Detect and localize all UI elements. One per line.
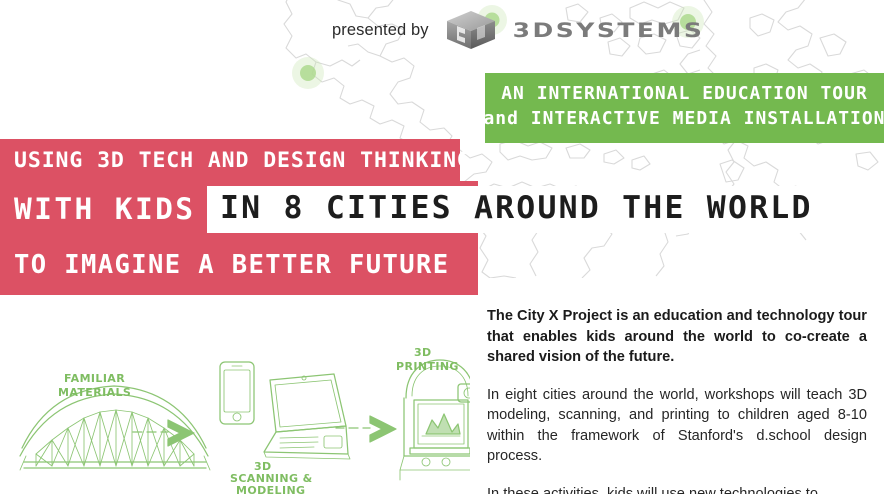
body-paragraph-lead: The City X Project is an education and t… <box>487 306 867 368</box>
step-1-label-line-2: MATERIALS <box>58 386 131 399</box>
step-2-label-line-3: MODELING <box>236 484 305 494</box>
green-banner: AN INTERNATIONAL EDUCATION TOUR and INTE… <box>485 73 884 143</box>
green-banner-line-2: and INTERACTIVE MEDIA INSTALLATION <box>481 107 884 132</box>
green-banner-line-2-rest: INTERACTIVE MEDIA INSTALLATION <box>531 109 884 129</box>
step-3-label-line-2: PRINTING <box>396 360 459 373</box>
headline-line-3: TO IMAGINE A BETTER FUTURE <box>14 250 450 280</box>
headline-line-1: USING 3D TECH AND DESIGN THINKING <box>14 148 471 173</box>
green-banner-line-2-prefix: and <box>483 109 530 129</box>
brand-wordmark: 3DSYSTEMS <box>513 19 705 42</box>
body-copy-column: The City X Project is an education and t… <box>487 306 867 494</box>
process-illustration: FAMILIAR MATERIALS <box>18 344 470 494</box>
headline-line-2-red: WITH KIDS <box>14 192 195 226</box>
presented-by-row: presented by 3DSYSTEMS <box>332 10 704 50</box>
body-paragraph-3: In these activities, kids will use new t… <box>487 484 867 494</box>
headline-line-2-white: IN 8 CITIES AROUND THE WORLD <box>220 190 813 226</box>
presented-by-label: presented by <box>332 21 429 40</box>
step-3-label-line-1: 3D <box>414 346 432 359</box>
3d-cube-logo-icon <box>443 8 499 52</box>
body-paragraph-2: In eight cities around the world, worksh… <box>487 385 867 467</box>
step-1-label-line-1: FAMILIAR <box>64 372 125 385</box>
poster-canvas: presented by 3DSYSTEMS AN INTERNATIO <box>0 0 884 494</box>
3d-printing-sketch <box>400 360 470 480</box>
green-banner-line-1: AN INTERNATIONAL EDUCATION TOUR <box>481 82 884 107</box>
scanning-modeling-sketch <box>220 362 350 459</box>
